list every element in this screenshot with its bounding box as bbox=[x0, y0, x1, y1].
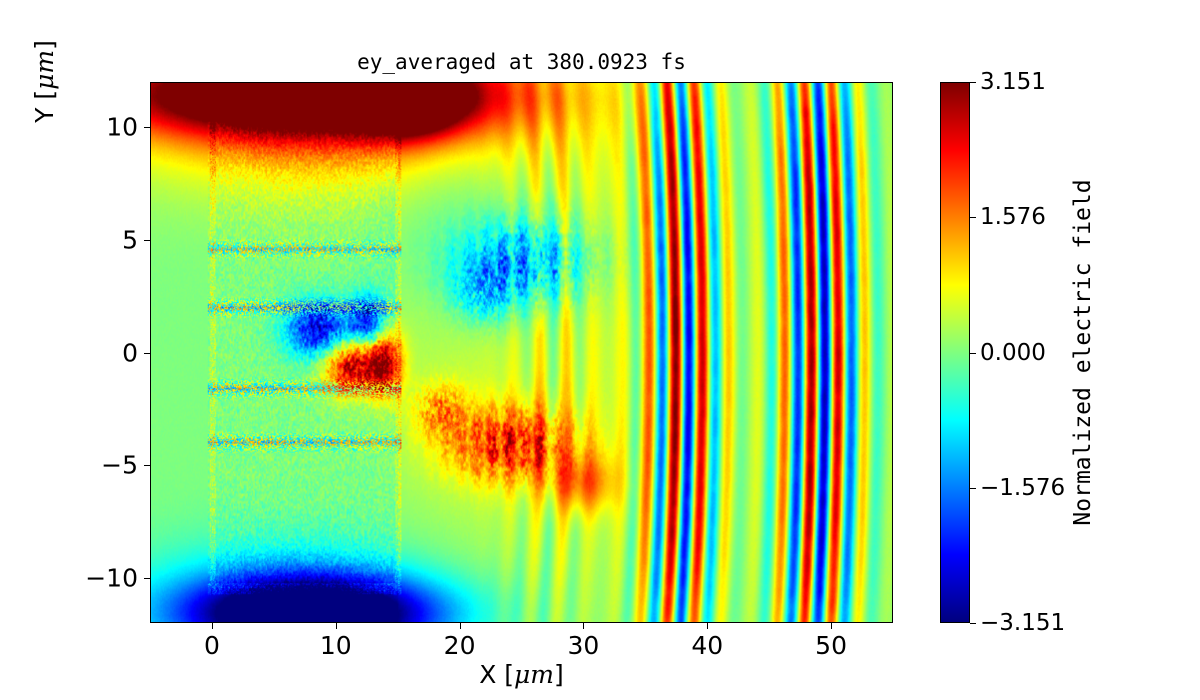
x-tick-label: 40 bbox=[691, 631, 723, 660]
x-tick-mark bbox=[336, 623, 337, 629]
y-tick-mark bbox=[144, 353, 150, 354]
y-tick-label: 0 bbox=[122, 338, 138, 367]
x-tick-label: 50 bbox=[815, 631, 847, 660]
y-tick-label: −10 bbox=[85, 563, 138, 592]
y-tick-mark bbox=[144, 578, 150, 579]
colorbar-tick-mark bbox=[970, 488, 976, 489]
y-tick-label: 5 bbox=[122, 225, 138, 254]
colorbar-tick-label: 0.000 bbox=[980, 340, 1046, 366]
figure-canvas: ey_averaged at 380.0923 fs 01020304050 1… bbox=[0, 0, 1200, 700]
x-tick-mark bbox=[460, 623, 461, 629]
x-tick-mark bbox=[212, 623, 213, 629]
colorbar-gradient bbox=[941, 83, 969, 622]
y-tick-label: −5 bbox=[101, 451, 138, 480]
y-tick-label: 10 bbox=[106, 113, 138, 142]
x-tick-mark bbox=[707, 623, 708, 629]
x-tick-label: 30 bbox=[568, 631, 600, 660]
colorbar-label: Normalized electric field bbox=[1070, 82, 1104, 623]
colorbar-tick-label: 3.151 bbox=[980, 69, 1046, 95]
colorbar-tick-mark bbox=[970, 353, 976, 354]
y-tick-mark bbox=[144, 127, 150, 128]
field-heatmap-image bbox=[151, 83, 892, 622]
x-tick-mark bbox=[583, 623, 584, 629]
colorbar-tick-label: −3.151 bbox=[980, 610, 1065, 636]
colorbar-tick-mark bbox=[970, 82, 976, 83]
heatmap-plot-area bbox=[150, 82, 893, 623]
x-tick-label: 10 bbox=[320, 631, 352, 660]
x-tick-label: 20 bbox=[444, 631, 476, 660]
colorbar-tick-label: 1.576 bbox=[980, 204, 1046, 230]
y-tick-mark bbox=[144, 240, 150, 241]
x-tick-mark bbox=[831, 623, 832, 629]
colorbar bbox=[940, 82, 970, 623]
colorbar-tick-mark bbox=[970, 623, 976, 624]
y-tick-mark bbox=[144, 465, 150, 466]
x-tick-label: 0 bbox=[204, 631, 220, 660]
y-axis-label: Y [μm] bbox=[30, 0, 64, 352]
colorbar-tick-mark bbox=[970, 217, 976, 218]
page-title: ey_averaged at 380.0923 fs bbox=[150, 50, 893, 74]
colorbar-tick-label: −1.576 bbox=[980, 475, 1065, 501]
x-axis-label: X [μm] bbox=[150, 660, 893, 689]
